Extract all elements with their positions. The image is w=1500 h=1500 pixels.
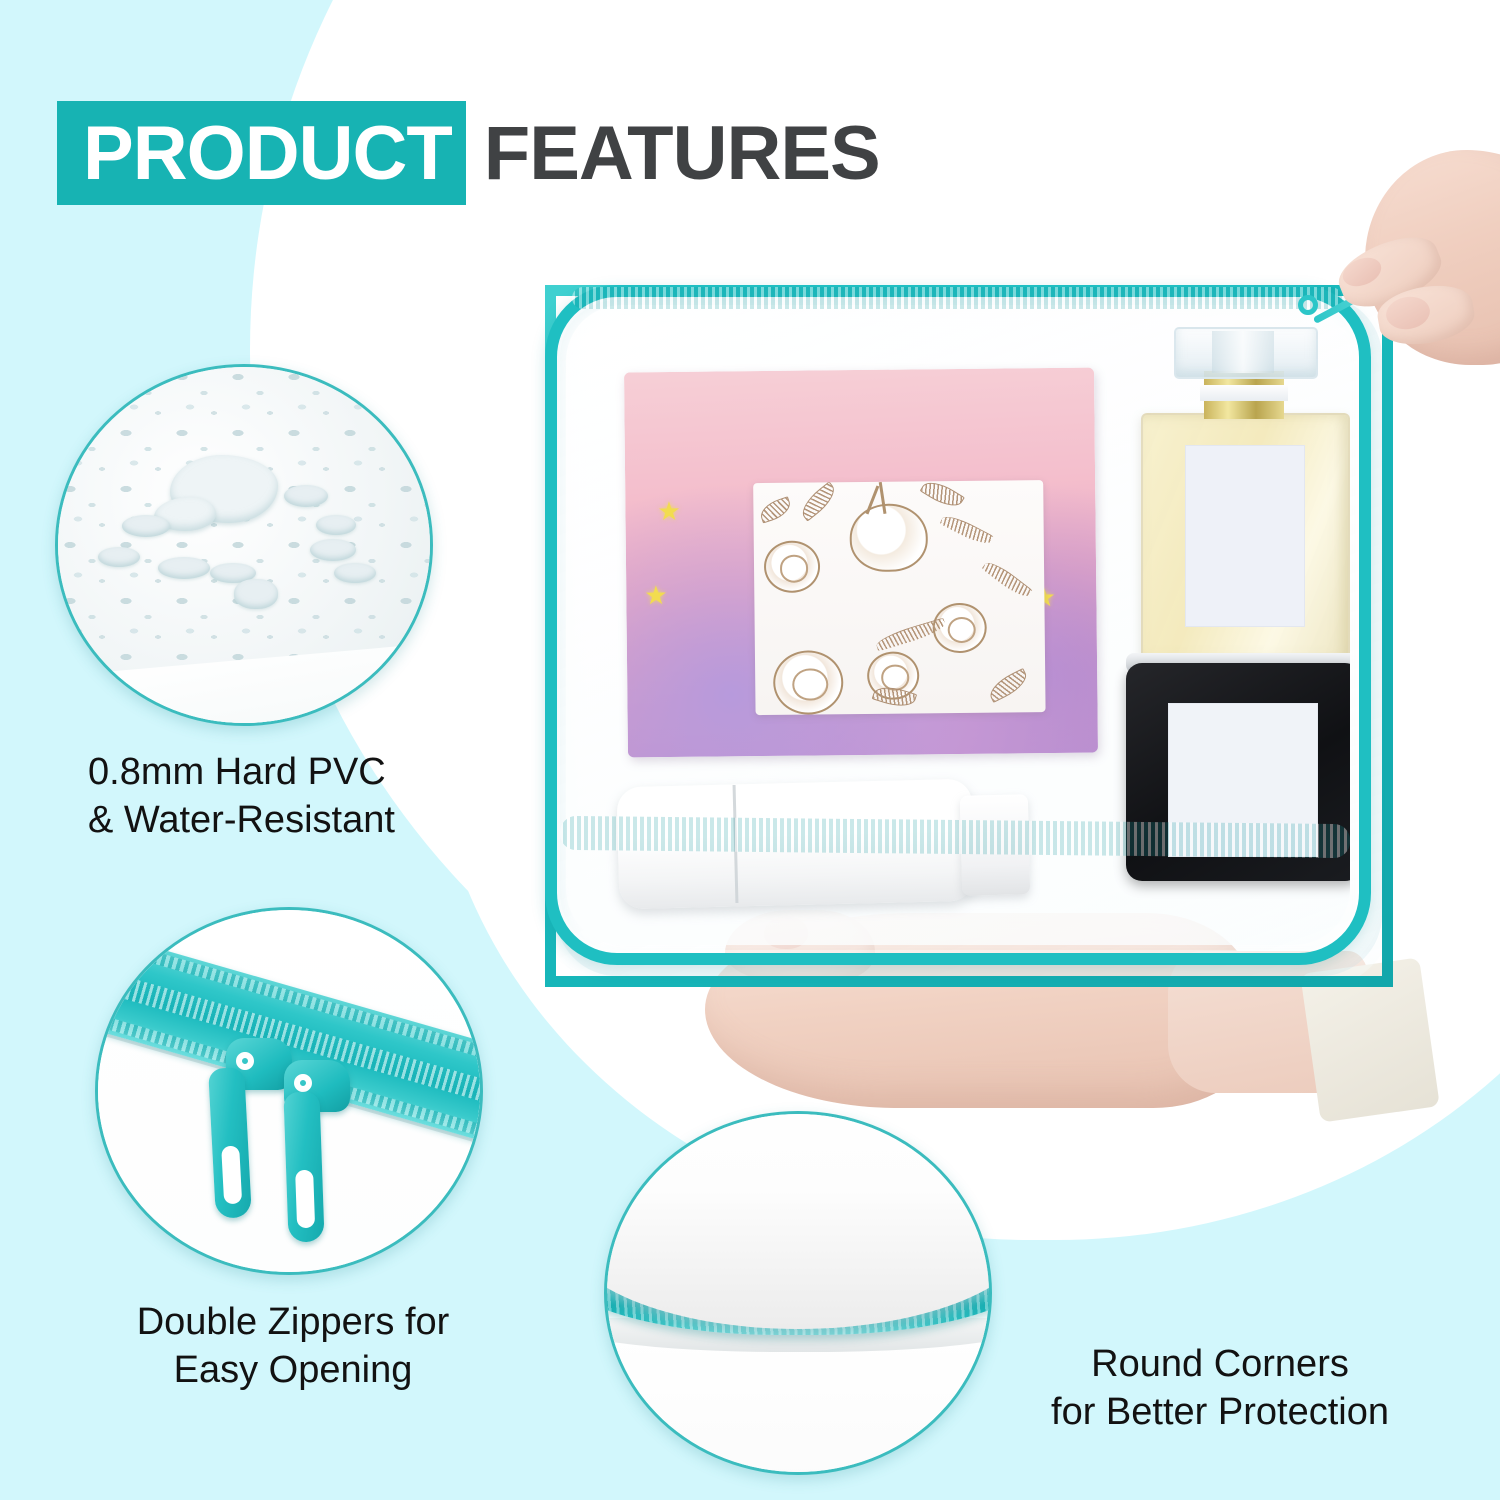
bag-upper-shell <box>604 1111 992 1329</box>
water-drop-medium <box>234 579 278 609</box>
bag-top-zipper[interactable] <box>572 287 1342 309</box>
feature-caption-double-zippers: Double Zippers for Easy Opening <box>128 1298 458 1394</box>
feature-caption-water-resistant: 0.8mm Hard PVC & Water-Resistant <box>88 748 395 844</box>
bag-lower-shell <box>604 1336 992 1475</box>
water-drop-medium <box>98 547 140 567</box>
round-corner-inset <box>604 1111 992 1475</box>
bag-zipper-trim <box>545 285 1371 965</box>
water-drop-medium <box>284 485 328 507</box>
water-drop-medium <box>122 515 170 537</box>
page-title: PRODUCT FEATURES <box>57 101 880 205</box>
product-photo: ★ ★ ★ ★ <box>520 265 1420 1025</box>
double-zipper-inset <box>95 907 483 1275</box>
title-plain-word: FEATURES <box>466 101 880 205</box>
zipper-tab-loop[interactable] <box>1298 295 1318 315</box>
zipper-pull-right[interactable] <box>283 1091 324 1242</box>
water-droplets-inset <box>55 364 433 726</box>
water-drop-medium <box>158 557 210 579</box>
infographic-canvas: PRODUCT FEATURES 0.8mm Hard PVC & Water-… <box>0 0 1500 1500</box>
water-drop-medium <box>334 563 376 583</box>
title-highlight-word: PRODUCT <box>57 101 466 205</box>
water-drop-medium <box>310 539 356 561</box>
feature-caption-round-corners: Round Corners for Better Protection <box>1050 1340 1390 1436</box>
water-drop-medium <box>316 515 356 535</box>
